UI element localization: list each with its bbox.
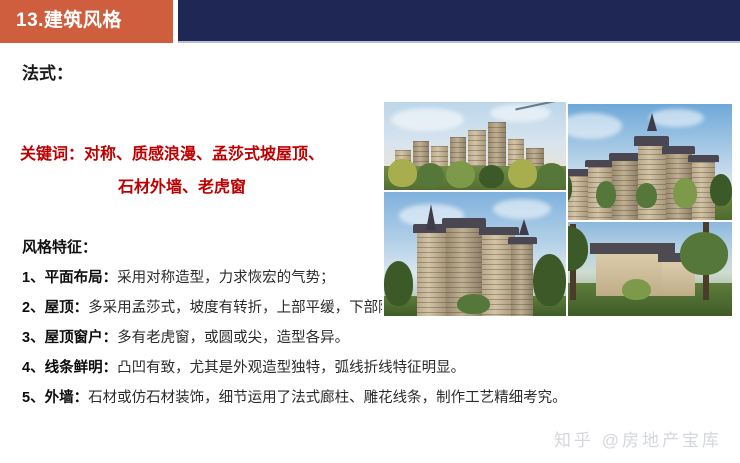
cloud	[559, 113, 622, 139]
list-item: 4、线条鲜明：凸凹有致，尤其是外观造型独特，弧线折线特征明显。	[22, 353, 722, 383]
tower-wing-left	[417, 227, 446, 316]
tree	[417, 163, 444, 189]
keywords-block: 关键词：对称、质感浪漫、孟莎式坡屋顶、 石材外墙、老虎窗	[14, 138, 374, 204]
keywords-line-1: 关键词：对称、质感浪漫、孟莎式坡屋顶、	[14, 138, 374, 171]
slide-header: 13.建筑风格	[0, 0, 740, 43]
tree	[680, 232, 728, 275]
page-title: 13.建筑风格	[16, 8, 122, 34]
tree	[710, 174, 732, 206]
feature-body: 多有老虎窗，或圆或尖，造型各异。	[117, 330, 349, 346]
feature-lead: 5、外墙：	[22, 390, 88, 406]
cloud	[649, 109, 704, 128]
tree	[479, 165, 504, 189]
style-label: 法式：	[22, 59, 73, 84]
tree	[596, 181, 616, 209]
feature-lead: 3、屋顶窗户：	[22, 330, 117, 346]
tree	[446, 161, 475, 189]
tree	[388, 159, 417, 187]
photo-midrise-french	[546, 102, 734, 222]
feature-body: 采用对称造型，力求恢宏的气势；	[117, 270, 335, 286]
building-roof	[688, 155, 719, 162]
shrub	[457, 294, 490, 314]
features-title: 风格特征：	[22, 236, 97, 257]
shrub	[622, 279, 651, 301]
tree	[673, 178, 697, 208]
turret-roof	[508, 237, 537, 244]
building-block	[612, 155, 638, 220]
feature-body: 石材或仿石材装饰，细节运用了法式廊柱、雕花线条，制作工艺精细考究。	[88, 390, 567, 406]
photo-highrise-complex	[382, 100, 568, 196]
tree	[384, 261, 413, 306]
tree	[636, 183, 656, 209]
slide-body: 法式： 关键词：对称、质感浪漫、孟莎式坡屋顶、 石材外墙、老虎窗 风格特征： 1…	[0, 43, 740, 463]
photo-mansard-tower	[382, 190, 568, 318]
tree	[533, 254, 566, 306]
photo-collage	[382, 100, 734, 318]
feature-lead: 2、屋顶：	[22, 300, 88, 316]
feature-lead: 4、线条鲜明：	[22, 360, 117, 376]
header-orange-band: 13.建筑风格	[0, 0, 173, 43]
mansard-roof	[479, 227, 519, 236]
tower-turret	[511, 239, 533, 316]
spire-icon	[519, 219, 529, 235]
list-item: 3、屋顶窗户：多有老虎窗，或圆或尖，造型各异。	[22, 323, 722, 353]
header-navy-band	[178, 0, 740, 41]
slide-root: 13.建筑风格 法式： 关键词：对称、质感浪漫、孟莎式坡屋顶、 石材外墙、老虎窗…	[0, 0, 740, 463]
building-roof	[609, 153, 642, 161]
spire-icon	[647, 113, 657, 131]
building-roof	[662, 146, 695, 154]
tree	[508, 159, 537, 188]
list-item: 5、外墙：石材或仿石材装饰，细节运用了法式廊柱、雕花线条，制作工艺精细考究。	[22, 383, 722, 413]
spire-icon	[426, 204, 436, 230]
photo-french-villa	[546, 216, 734, 318]
building-roof	[634, 136, 669, 145]
keywords-line-2: 石材外墙、老虎窗	[14, 171, 374, 204]
feature-lead: 1、平面布局：	[22, 270, 117, 286]
feature-body: 多采用孟莎式，坡度有转折，上部平缓，下部陡直。	[88, 300, 422, 316]
feature-body: 凸凹有致，尤其是外观造型独特，弧线折线特征明显。	[117, 360, 465, 376]
tree	[537, 163, 566, 189]
